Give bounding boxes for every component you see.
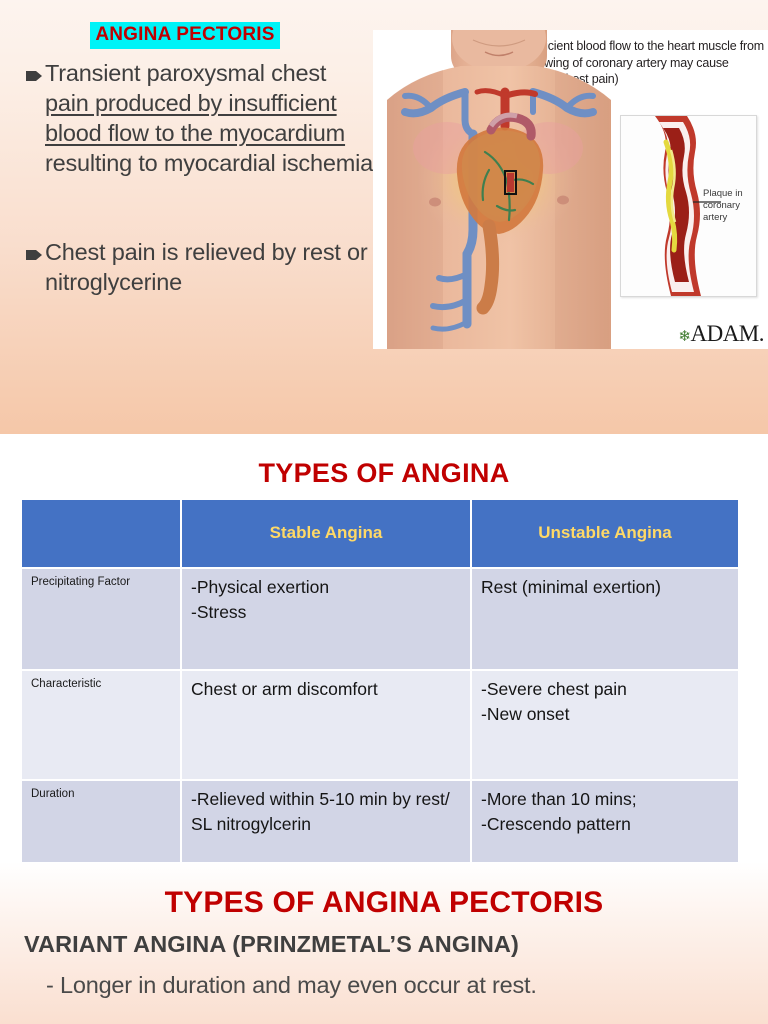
adam-watermark-text: ADAM.: [690, 321, 764, 346]
bullet-1-underlined: pain produced by insufficient blood flow…: [45, 90, 345, 146]
angina-comparison-table: Stable Angina Unstable Angina Precipitat…: [20, 498, 740, 887]
slide-angina-pectoris: ANGINA PECTORIS Transient paroxysmal che…: [0, 0, 768, 434]
list-item: Transient paroxysmal chest pain produced…: [26, 58, 374, 178]
torso-heart-diagram: [373, 30, 623, 349]
variant-angina-subtitle: VARIANT ANGINA (PRINZMETAL’S ANGINA): [24, 931, 519, 958]
row-label-characteristic: Characteristic: [21, 670, 181, 780]
page-title: ANGINA PECTORIS: [90, 22, 279, 49]
types-of-angina-title: TYPES OF ANGINA: [0, 458, 768, 489]
column-header-unstable-angina: Unstable Angina: [471, 499, 739, 568]
slide-types-of-angina-pectoris: TYPES OF ANGINA PECTORIS VARIANT ANGINA …: [0, 862, 768, 1024]
column-header-blank: [21, 499, 181, 568]
coronary-artery-inset: Plaque in coronary artery: [620, 115, 757, 297]
bullet-text: Chest pain is relieved by rest or nitrog…: [45, 237, 374, 297]
cell-unstable-characteristic: -Severe chest pain -New onset: [471, 670, 739, 780]
bullet-1-pre: Transient paroxysmal chest: [45, 60, 326, 86]
cell-stable-precipitating: -Physical exertion -Stress: [181, 568, 471, 670]
cell-stable-characteristic: Chest or arm discomfort: [181, 670, 471, 780]
table-body: Precipitating Factor -Physical exertion …: [21, 568, 739, 886]
list-item: Chest pain is relieved by rest or nitrog…: [26, 237, 374, 297]
bullet-text: Transient paroxysmal chest pain produced…: [45, 58, 374, 178]
table-header: Stable Angina Unstable Angina: [21, 499, 739, 568]
table-row: Characteristic Chest or arm discomfort -…: [21, 670, 739, 780]
leaf-icon: ❄: [678, 329, 690, 345]
angina-title-wrap: ANGINA PECTORIS: [0, 22, 370, 49]
pennant-bullet-icon: [26, 70, 43, 82]
slide-types-of-angina: TYPES OF ANGINA Stable Angina Unstable A…: [0, 434, 768, 862]
plaque-label: Plaque in coronary artery: [703, 188, 756, 224]
row-label-precipitating-factor: Precipitating Factor: [21, 568, 181, 670]
bullet-1-post: resulting to myocardial ischemia: [45, 150, 373, 176]
angina-anatomy-illustration: Insufficient blood flow to the heart mus…: [373, 30, 768, 349]
cell-unstable-precipitating: Rest (minimal exertion): [471, 568, 739, 670]
types-of-angina-pectoris-title: TYPES OF ANGINA PECTORIS: [0, 886, 768, 920]
pennant-bullet-icon: [26, 249, 43, 261]
bullet-list: Transient paroxysmal chest pain produced…: [26, 58, 374, 301]
adam-watermark: ❄ADAM.: [678, 321, 764, 347]
table-header-row: Stable Angina Unstable Angina: [21, 499, 739, 568]
table-row: Precipitating Factor -Physical exertion …: [21, 568, 739, 670]
column-header-stable-angina: Stable Angina: [181, 499, 471, 568]
variant-angina-description: - Longer in duration and may even occur …: [46, 972, 537, 999]
